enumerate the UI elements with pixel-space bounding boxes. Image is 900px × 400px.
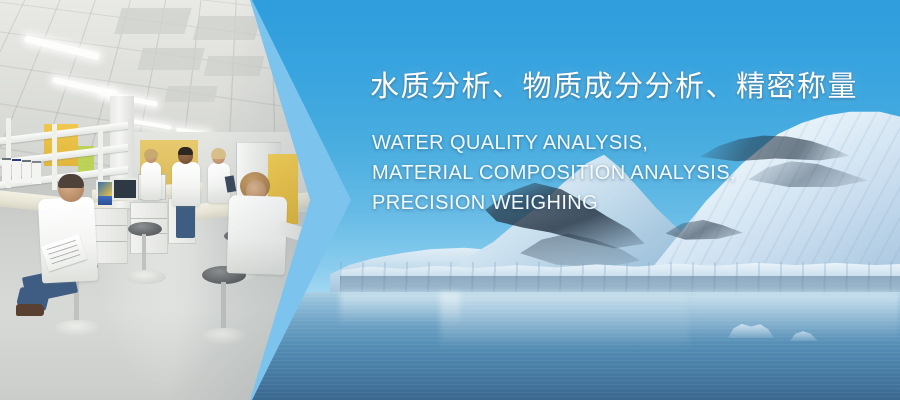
binder xyxy=(32,161,41,184)
ceiling-tile xyxy=(193,16,262,40)
binder xyxy=(22,160,31,183)
ceiling-tile xyxy=(164,86,217,102)
binder xyxy=(2,158,11,182)
headline-chinese: 水质分析、物质成分分析、精密称量 xyxy=(370,68,890,106)
banner-text-block: 水质分析、物质成分分析、精密称量 WATER QUALITY ANALYSIS,… xyxy=(370,68,890,218)
laboratory-photo-panel xyxy=(0,0,310,400)
computer-monitor xyxy=(112,178,138,200)
subtitle-line-1: WATER QUALITY ANALYSIS, xyxy=(372,128,890,158)
subtitle-english-list: WATER QUALITY ANALYSIS, MATERIAL COMPOSI… xyxy=(372,128,890,218)
hair xyxy=(58,174,84,188)
stool-post xyxy=(221,282,226,334)
document-text-lines xyxy=(47,240,81,266)
ceiling-tile xyxy=(137,48,204,70)
binder xyxy=(12,159,21,183)
stool-base xyxy=(54,320,102,337)
water-reflection-right xyxy=(690,292,900,340)
cabinet-drawer-line xyxy=(91,241,127,242)
subtitle-line-2: MATERIAL COMPOSITION ANALYSIS, xyxy=(372,158,890,188)
lab-coat xyxy=(141,162,161,200)
cabinet-drawer-line xyxy=(131,218,167,219)
ceiling-tile xyxy=(204,56,265,76)
stool-base xyxy=(201,328,249,345)
shoe xyxy=(16,304,44,316)
lab-coat xyxy=(172,162,200,206)
hair xyxy=(144,149,158,158)
cabinet-drawer-line xyxy=(91,225,127,226)
stool-base xyxy=(126,270,166,284)
lab-coat xyxy=(227,195,288,275)
trousers xyxy=(176,204,195,238)
laboratory-scene xyxy=(0,0,310,400)
hair xyxy=(178,147,193,155)
hair xyxy=(211,148,226,159)
water-reflection-center xyxy=(440,292,690,350)
blue-sample-box xyxy=(98,196,112,205)
hero-banner: 水质分析、物质成分分析、精密称量 WATER QUALITY ANALYSIS,… xyxy=(0,0,900,400)
ceiling-tile xyxy=(114,8,191,34)
subtitle-line-3: PRECISION WEIGHING xyxy=(372,188,890,218)
shelf-post xyxy=(52,124,57,190)
